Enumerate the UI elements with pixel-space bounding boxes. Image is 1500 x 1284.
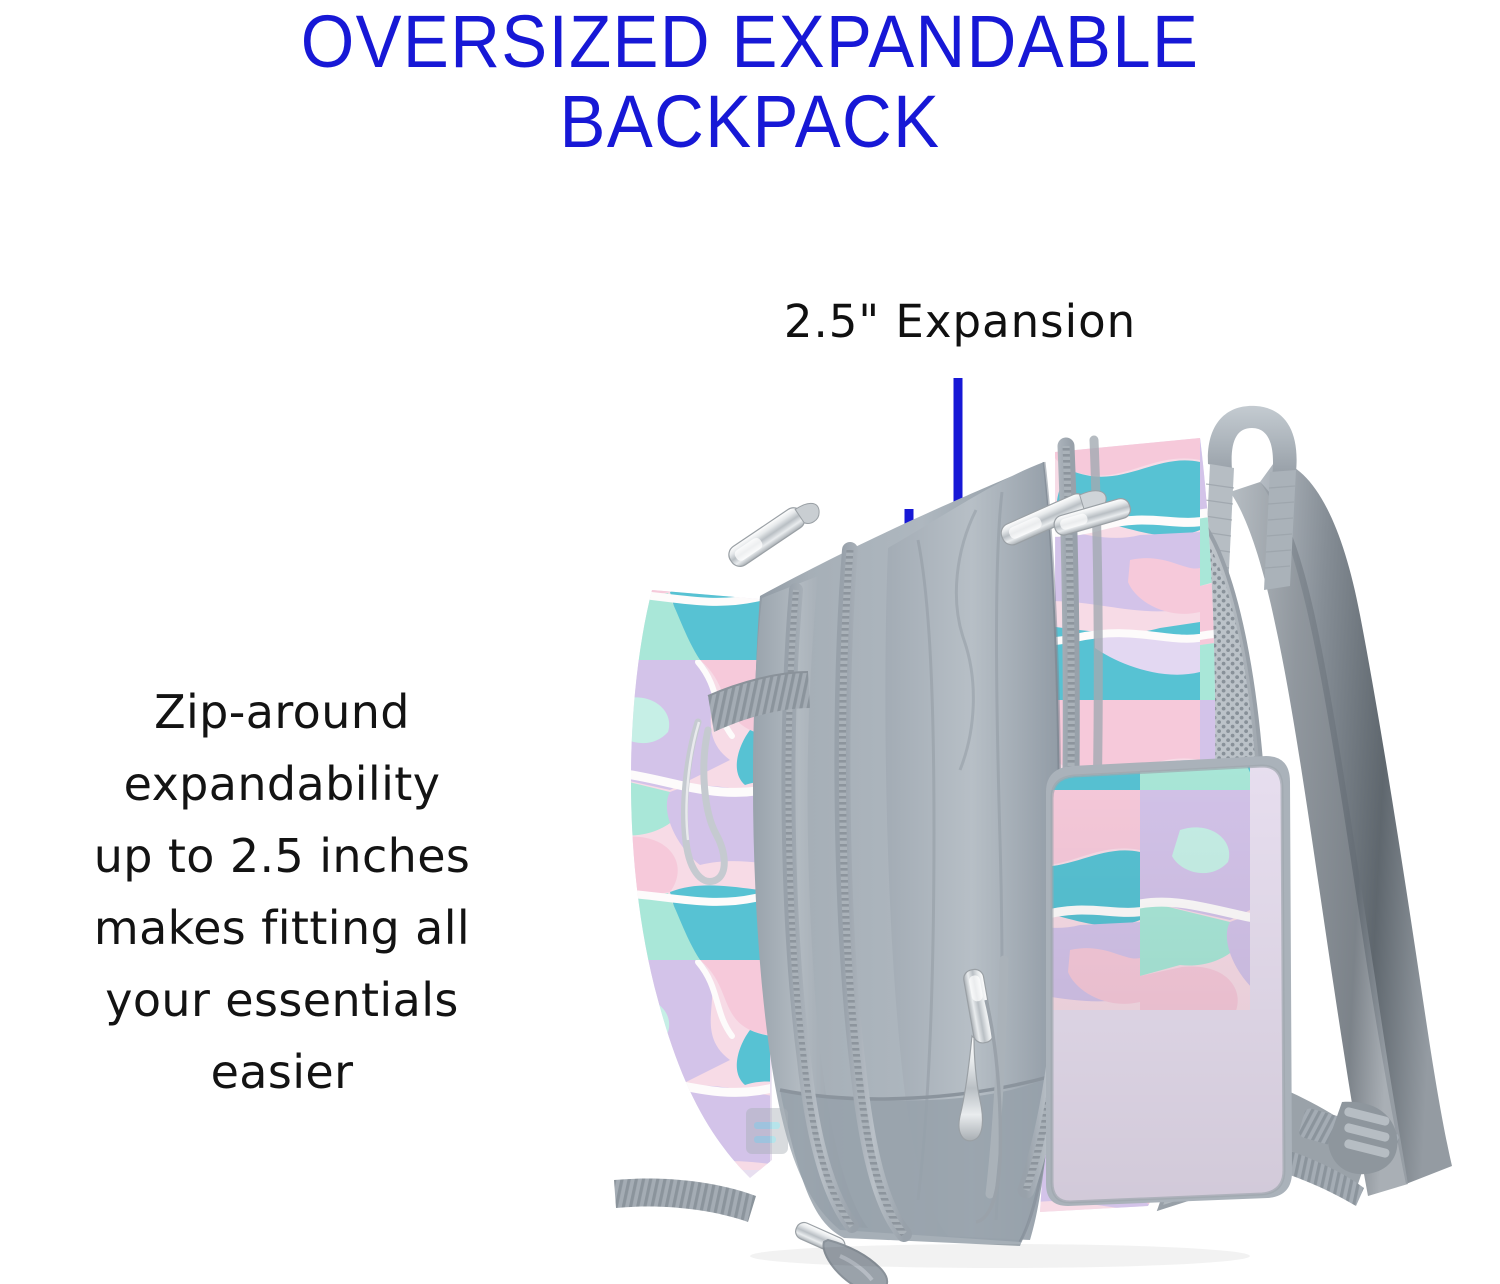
expansion-callout-label: 2.5" Expansion [620, 294, 1300, 350]
page-title: OVERSIZED EXPANDABLE BACKPACK [53, 2, 1448, 162]
backpack-product-image [600, 400, 1500, 1284]
product-marketing-image: OVERSIZED EXPANDABLE BACKPACK 2.5" Expan… [0, 0, 1500, 1284]
feature-description-text: Zip-around expandability up to 2.5 inche… [0, 676, 582, 1108]
brand-patch [746, 1108, 788, 1154]
zipper-pull-top-left [725, 495, 823, 572]
bottom-webbing-tail [614, 1179, 756, 1222]
